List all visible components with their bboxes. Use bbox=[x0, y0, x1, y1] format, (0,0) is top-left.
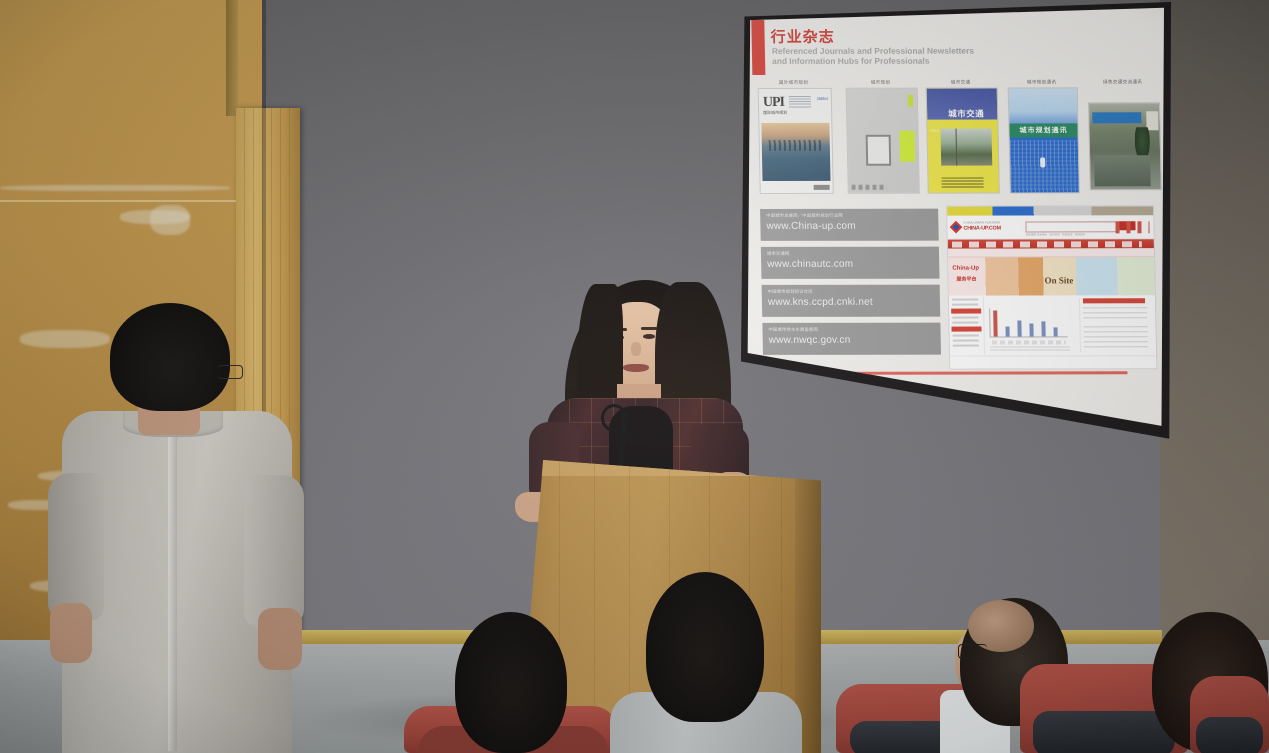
slide-subtitle: Referenced Journals and Professional New… bbox=[772, 45, 1072, 66]
journal-issue-1: 2005/4 bbox=[817, 97, 828, 101]
china-up-logo-icon bbox=[950, 221, 963, 234]
resource-link-row[interactable]: 城市交通网 www.chinautc.com bbox=[761, 247, 940, 279]
site-search-hint: 高级搜索 规划资讯 · 城市规划 · 规划法规 · 规划资料 bbox=[1026, 232, 1086, 236]
site-chart-panel bbox=[985, 298, 1078, 352]
standing-attendee bbox=[28, 303, 320, 753]
glasses-icon bbox=[958, 644, 987, 659]
journal-image-4: · 城市规划通讯 bbox=[1008, 87, 1080, 193]
journal-label-1: 国外城市规划 bbox=[757, 80, 829, 86]
resource-link-label: 城市交通网 bbox=[767, 251, 790, 257]
journal-cover-row: 国外城市规划 UPI 2005/4 国际城市规划 城市规划 bbox=[757, 79, 1159, 200]
journal-cover-1: 国外城市规划 UPI 2005/4 国际城市规划 bbox=[757, 80, 831, 194]
site-banner[interactable]: China-Up 服务平台 On Site bbox=[948, 257, 1155, 295]
journal-cover-2: 城市规划 bbox=[846, 80, 918, 194]
journal-cover-5: 绿色交通交流通讯 · bbox=[1088, 79, 1160, 190]
resource-link-url: www.chinautc.com bbox=[767, 259, 853, 270]
site-navbar[interactable] bbox=[948, 239, 1154, 248]
resource-link-label: 中国城市发展网／中国城市规划行业网 bbox=[766, 213, 843, 219]
slide-subtitle-line2: and Information Hubs for Professionals bbox=[772, 55, 1072, 66]
glasses-icon bbox=[218, 365, 243, 379]
title-accent-bar bbox=[751, 20, 765, 75]
site-body bbox=[949, 296, 1156, 354]
site-logo-text: CHINA-UP.COM bbox=[963, 226, 1000, 232]
journal-label-4: 城市规划通讯 bbox=[1008, 79, 1076, 85]
journal-image-2 bbox=[846, 88, 920, 194]
presenter-mouth bbox=[623, 364, 649, 372]
journal-label-2: 城市规划 bbox=[846, 80, 916, 86]
site-logo-tagline: CHINA URBAN PLANNING bbox=[963, 221, 1000, 225]
journal-cover-4: 城市规划通讯 · 城市规划通讯 bbox=[1008, 79, 1078, 193]
site-header-icons[interactable] bbox=[1115, 221, 1149, 233]
bar-chart bbox=[991, 308, 1066, 336]
site-news-panel bbox=[1079, 298, 1157, 352]
slide-subtitle-line1: Referenced Journals and Professional New… bbox=[772, 45, 1072, 56]
banner-brand: China-Up bbox=[952, 266, 979, 272]
journal-image-3: 城市交通 URBAN TRANSPORT OF CHINA 2005/1 bbox=[926, 88, 1000, 194]
site-subnav[interactable] bbox=[948, 248, 1154, 257]
audience-head bbox=[646, 572, 764, 722]
auditorium-seat bbox=[1190, 676, 1269, 753]
site-header: CHINA URBAN PLANNING CHINA-UP.COM 高级搜索 规… bbox=[947, 216, 1153, 239]
website-screenshot: CHINA URBAN PLANNING CHINA-UP.COM 高级搜索 规… bbox=[946, 205, 1157, 369]
journal-cover-3: 城市交通 城市交通 URBAN TRANSPORT OF CHINA 2005/… bbox=[926, 80, 998, 194]
standing-attendee-head bbox=[110, 303, 230, 411]
site-search-input[interactable] bbox=[1025, 221, 1119, 232]
journal-name-cn-1: 国际城市规划 bbox=[763, 110, 787, 116]
banner-sub: 服务平台 bbox=[956, 276, 976, 283]
site-footer bbox=[950, 355, 1156, 368]
screenshot-root: 行业杂志 Referenced Journals and Professiona… bbox=[0, 0, 1269, 753]
journal-name-3: 城市交通 bbox=[948, 107, 984, 119]
upi-logo: UPI bbox=[763, 95, 784, 111]
site-sidebar[interactable] bbox=[949, 297, 985, 355]
journal-name-4: 城市规划通讯 bbox=[1009, 125, 1077, 135]
right-wall bbox=[1160, 0, 1269, 700]
screenshot-top-strip bbox=[947, 206, 1153, 215]
slide-title: 行业杂志 bbox=[770, 26, 834, 47]
audience-head bbox=[455, 612, 567, 753]
journal-label-5: 绿色交通交流通讯 bbox=[1088, 79, 1158, 85]
resource-link-row[interactable]: 中国城市发展网／中国城市规划行业网 www.China-up.com bbox=[760, 209, 939, 241]
door-frame bbox=[226, 0, 238, 116]
journal-image-1: UPI 2005/4 国际城市规划 bbox=[758, 88, 834, 194]
journal-issue-3: 2005/1 bbox=[930, 128, 939, 132]
journal-image-5: · bbox=[1088, 102, 1162, 190]
journal-label-3: 城市交通 bbox=[926, 80, 996, 86]
banner-headline: On Site bbox=[1044, 275, 1073, 285]
resource-link-url: www.China-up.com bbox=[766, 221, 856, 232]
